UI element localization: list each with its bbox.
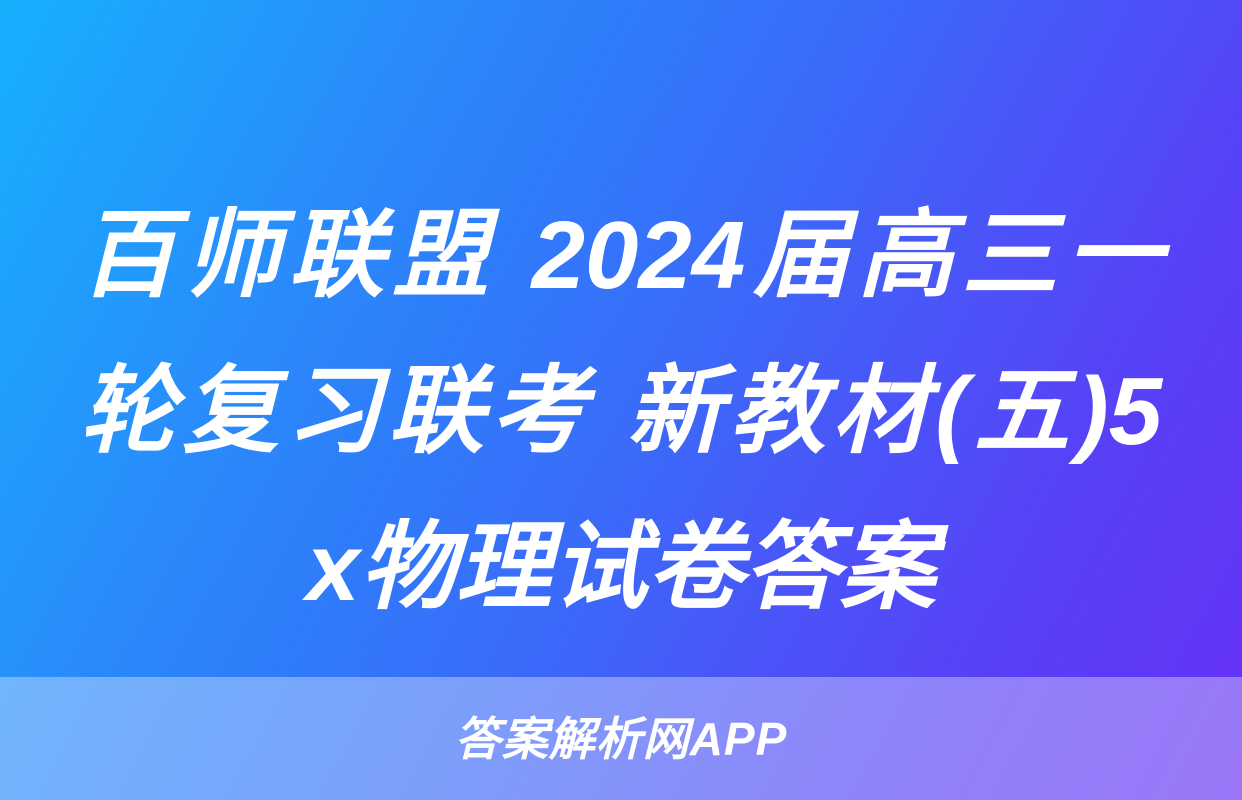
title-line-1: 百师联盟 2024届高三一 (80, 178, 1162, 334)
poster-canvas: 百师联盟 2024届高三一 轮复习联考 新教材(五)5 x物理试卷答案 答案解析… (0, 0, 1242, 800)
watermark-label: 答案解析网APP (455, 716, 788, 762)
watermark-band: 答案解析网APP (0, 677, 1242, 800)
page-title: 百师联盟 2024届高三一 轮复习联考 新教材(五)5 x物理试卷答案 (80, 178, 1162, 646)
title-line-2: 轮复习联考 新教材(五)5 (80, 334, 1162, 490)
title-line-3: x物理试卷答案 (80, 490, 1162, 646)
